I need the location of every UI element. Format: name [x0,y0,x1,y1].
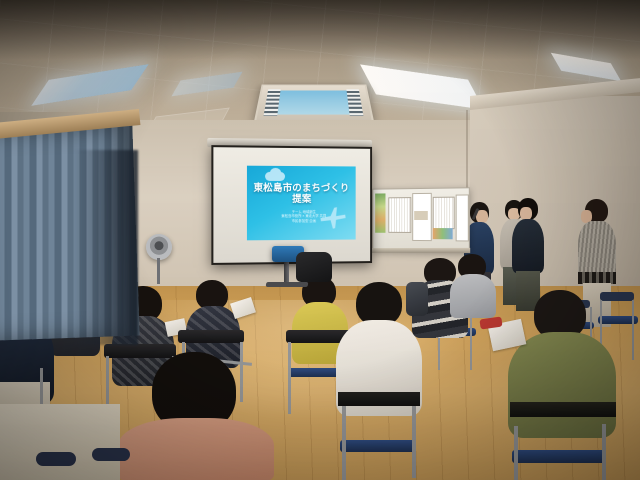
presentation-slide: 東松島市のまちづくり 提案 チーム 地域創生 東松島市役所 × 東北大学 共同 … [247,166,356,241]
slide-title-line1: 東松島市のまちづくり [251,183,352,194]
attendee-6-chair-back-bar [338,392,420,406]
board-poster-green [375,193,385,232]
attendee-9-torso [118,418,274,480]
board-poster-color [433,228,453,239]
board-calendar-1 [388,197,411,233]
attendee-8-chair-back-bar [510,402,616,417]
cloud-icon [265,172,285,181]
attendee-7-backpack [406,282,428,316]
attendee-3-shoe [92,448,130,461]
board-notice-2 [456,194,469,241]
board-calendar-2 [433,197,455,230]
attendee-2-shoe [36,452,76,466]
slide-title-line2: 提案 [251,194,352,205]
meeting-room-photo: 東松島市のまちづくり 提案 チーム 地域創生 東松島市役所 × 東北大学 共同 … [0,0,640,480]
equipment-bag [296,252,332,282]
screen-stand-foot [266,282,309,287]
slide-subtitle: チーム 地域創生 東松島市役所 × 東北大学 共同 市民参加型 企画 [269,210,338,223]
ceiling-cassette-air-conditioner [254,84,374,122]
attendee-2-lap [0,404,120,480]
ac-intake-panel [272,90,356,114]
projection-screen: 東松島市のまちづくり 提案 チーム 地域創生 東松島市役所 × 東北大学 共同 … [211,145,368,261]
curtain-shadow [74,150,138,345]
board-photo-1 [414,211,428,220]
slide-subtitle-line3: 市民参加型 企画 [269,219,338,224]
slide-title: 東松島市のまちづくり 提案 [251,183,352,205]
board-bottom-rail [369,248,470,253]
electric-fan-head [146,234,172,260]
wall-bulletin-board [372,187,469,252]
electric-fan-pole [157,258,160,284]
ac-louver-right [346,89,363,116]
attendee-11-torso [450,274,496,318]
attendee-8-torso [508,332,616,438]
presenter-3-torso [512,219,544,273]
ceiling-shadow [0,0,640,60]
